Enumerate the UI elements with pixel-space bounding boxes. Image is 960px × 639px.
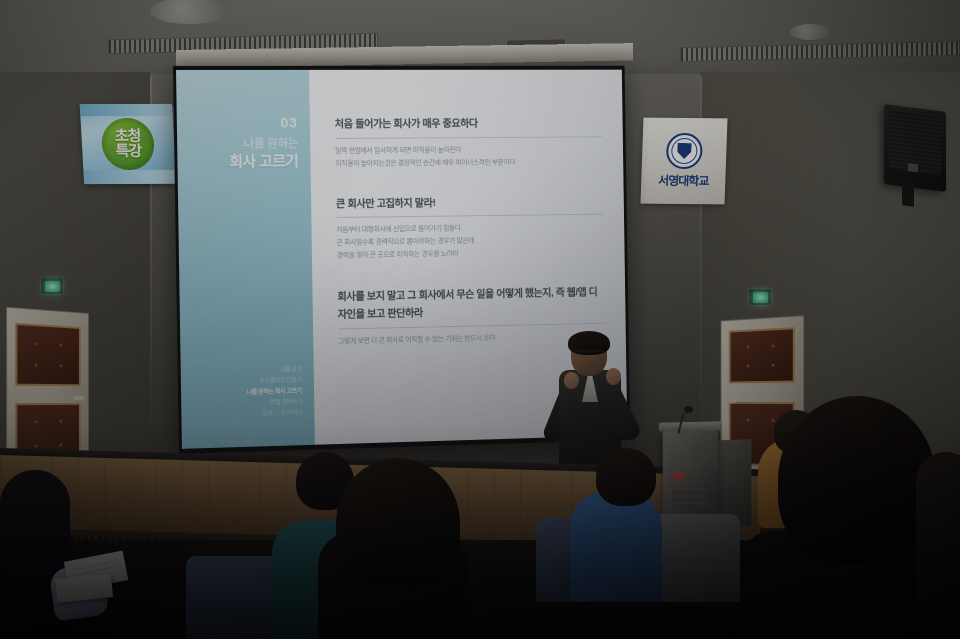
- banner-university: 서영대학교: [640, 118, 727, 205]
- audience-head: [336, 458, 460, 588]
- slide-section-number: 03: [177, 115, 298, 131]
- audience-head: [778, 396, 936, 564]
- slide-block-line: 경력을 쌓아 큰 곳으로 이직하는 경우를 노려라: [337, 247, 605, 264]
- exit-sign-icon: [748, 288, 772, 306]
- slide-divider: [335, 136, 602, 139]
- slide-block: 처음 들어가는 회사가 매우 중요하다 일찍 현업에서 입사하게 되면 이직율이…: [335, 116, 603, 171]
- slide-block-heading: 회사를 보지 말고 그 회사에서 무슨 일을 어떻게 했는지, 즉 웹/앱 디자…: [337, 284, 605, 323]
- banner-stripe: [80, 104, 173, 116]
- ceiling-light-icon: [790, 24, 830, 40]
- toc-item: 입사 그 후 이야기: [247, 408, 302, 421]
- glasses-icon: [575, 350, 603, 356]
- lectern-indicator-led: [674, 474, 682, 478]
- slide-sidebar: 03 나를 원하는 회사 고르기 나를 알기 포트폴리오 만들기 나를 원하는 …: [176, 70, 314, 449]
- wall-speaker-icon: [884, 104, 946, 192]
- presenter-hand: [564, 372, 579, 389]
- door-handle-icon[interactable]: [725, 399, 736, 403]
- slide-divider: [336, 214, 603, 218]
- slide-toc: 나를 알기 포트폴리오 만들기 나를 원하는 회사 고르기 면접 준비하기 입사…: [246, 364, 302, 420]
- slide-section-title: 회사 고르기: [177, 152, 298, 172]
- university-emblem-icon: [666, 133, 703, 169]
- slide-block: 큰 회사만 고집하지 말라! 처음부터 대형회사에 신입으로 들어가기 힘들다 …: [336, 194, 604, 264]
- slide-divider: [338, 323, 605, 330]
- emblem-ring: [671, 138, 698, 164]
- door-panel: [729, 327, 794, 384]
- banner-stripe: [83, 170, 176, 184]
- slide-section-subtitle: 나를 원하는: [177, 136, 298, 153]
- slide-block-heading: 처음 들어가는 회사가 매우 중요하다: [335, 116, 603, 133]
- audience-body: [916, 452, 960, 639]
- speaker-led: [908, 163, 918, 172]
- audience-head: [596, 448, 656, 506]
- door-handle-icon[interactable]: [73, 396, 84, 400]
- green-circle-badge: 초청 특강: [101, 118, 156, 170]
- door-panel: [16, 322, 81, 386]
- microphone-icon: [684, 406, 693, 413]
- banner-line1: 초청: [114, 129, 140, 144]
- banner-line2: 특강: [115, 144, 141, 159]
- slide-block-heading: 큰 회사만 고집하지 말라!: [336, 194, 604, 212]
- exit-sign-glow: [753, 292, 768, 303]
- audience-body: [570, 492, 662, 602]
- exit-sign-glow: [45, 281, 60, 292]
- banner-special-lecture: 초청 특강: [80, 104, 177, 184]
- slide-block-line: 이직율이 높아지는것은 결정적인 순간에 매우 마이너스적인 부분이다: [335, 156, 603, 171]
- lecture-hall-photo: 초청 특강 서영대학교: [0, 0, 960, 639]
- toc-item: 나를 알기: [246, 364, 301, 376]
- lectern: [663, 427, 718, 520]
- lectern-top: [659, 421, 722, 431]
- speaker-mount: [902, 181, 914, 207]
- exit-sign-icon: [40, 277, 64, 295]
- presenter-hand: [606, 368, 621, 385]
- lectern-control-panel[interactable]: [672, 486, 707, 508]
- university-name: 서영대학교: [658, 172, 709, 189]
